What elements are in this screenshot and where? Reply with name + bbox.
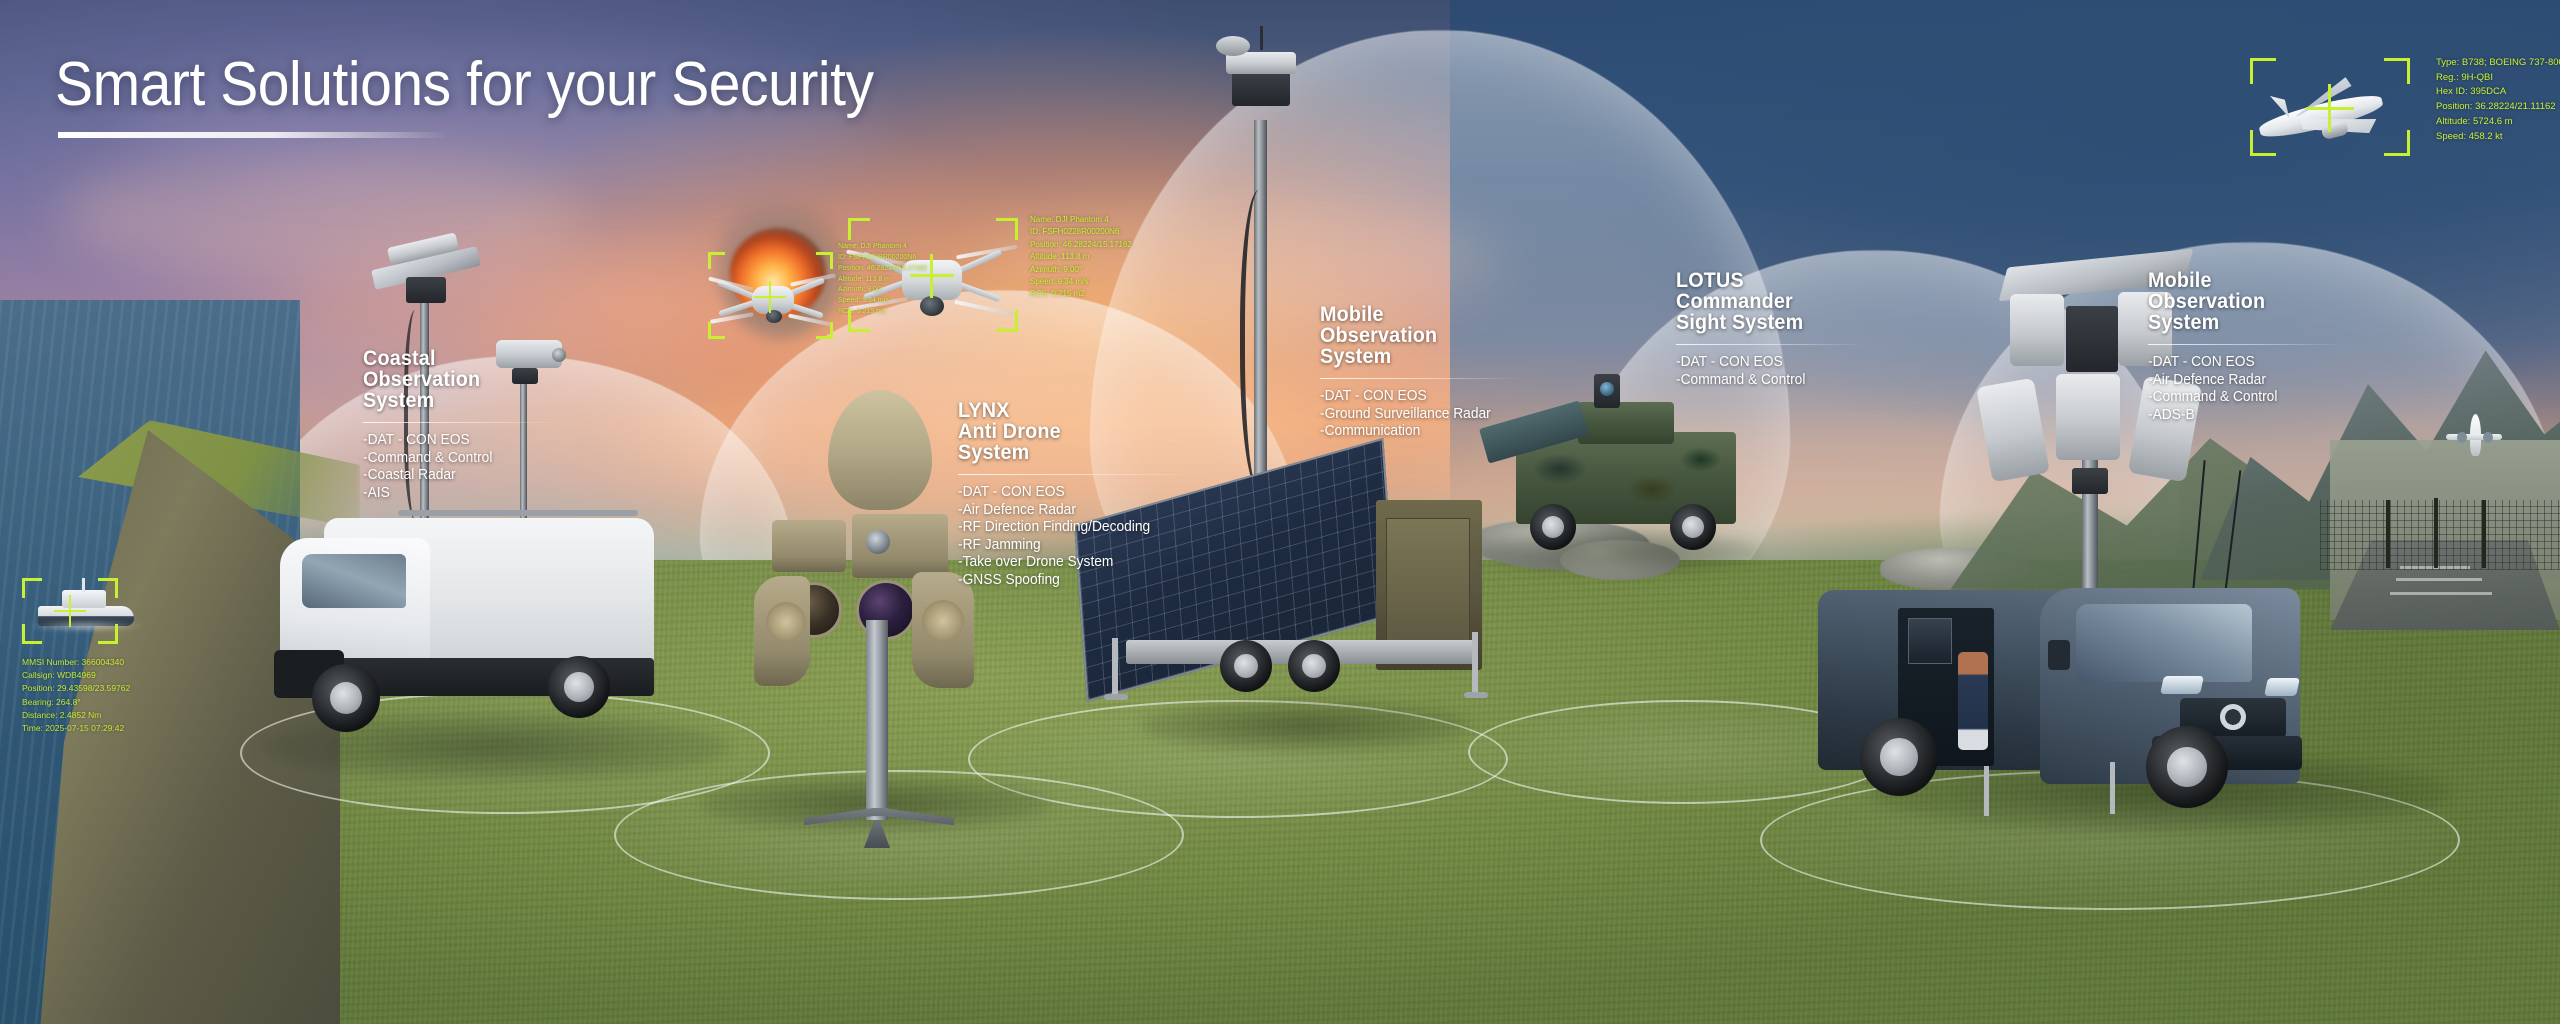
callout-item: -Communication xyxy=(1320,423,1558,441)
callout-item: -DAT - CON EOS xyxy=(2148,354,2367,372)
aircraft-hud-crosshair-v xyxy=(2328,84,2331,132)
right-van-mast-collar xyxy=(2072,468,2108,494)
right-van-headlight-right xyxy=(2264,678,2300,696)
drone-left-hud-bracket-tl xyxy=(708,252,725,269)
right-van-panel-left xyxy=(1976,378,2050,483)
callout-item: -ADS-B xyxy=(2148,407,2367,425)
vessel-hud-line-6: Time: 2025-07-15 07:29:42 xyxy=(22,722,130,735)
vessel-hud-readout: MMSI Number: 366004340 Callsign: WDB4969… xyxy=(22,656,130,735)
lotus-sight-lens xyxy=(1600,382,1614,396)
lotus-vehicle-turret xyxy=(1578,402,1674,444)
aircraft-hud-line-2: Reg.: 9H-QBI xyxy=(2436,71,2560,86)
vessel-hud-line-3: Position: 29.43598/23.59762 xyxy=(22,682,130,695)
callout-mobile-observation-system-right: Mobile Observation System -DAT - CON EOS… xyxy=(2148,270,2378,424)
lotus-vehicle-wheel-front xyxy=(1530,504,1576,550)
vessel-hud-line-2: Callsign: WDB4969 xyxy=(22,669,130,682)
trailer-wheel-front xyxy=(1220,640,1272,692)
lynx-radome xyxy=(828,390,932,510)
callout-divider xyxy=(1676,344,1866,345)
vessel-hud-crosshair-v xyxy=(69,595,71,627)
callout-item: -DAT - CON EOS xyxy=(363,432,553,450)
callout-title: Mobile Observation System xyxy=(2148,270,2364,333)
aircraft-tracking-hud: Type: B738; BOEING 737-800 Reg.: 9H-QBI … xyxy=(2250,58,2550,168)
drone-right-hud-bracket-tr xyxy=(996,218,1018,240)
right-van-whip-antenna-2 xyxy=(2225,470,2242,589)
right-van-wheel-rear xyxy=(1860,718,1938,796)
aircraft-hud-bracket-bl xyxy=(2250,130,2276,156)
callout-title: LOTUS Commander Sight System xyxy=(1676,270,1892,333)
drone-left-hud-bracket-tr xyxy=(816,252,833,269)
fence-post-3 xyxy=(2482,500,2486,568)
trailer-wheel-rear xyxy=(1288,640,1340,692)
callout-item: -Command & Control xyxy=(1676,372,1895,390)
callout-title: LYNX Anti Drone System xyxy=(958,400,1231,463)
drone-right-hud-line-6: Speed: 9.34 m/s xyxy=(1030,276,1132,288)
right-van-panel-center xyxy=(2056,374,2120,460)
right-van-whip-antenna-1 xyxy=(2192,460,2205,590)
trailer-box-door-panel xyxy=(1386,518,1470,658)
callout-lotus-commander-sight-system: LOTUS Commander Sight System -DAT - CON … xyxy=(1676,270,1906,389)
trailer-stabilizer-foot-right xyxy=(1464,692,1488,698)
mercedes-star-logo xyxy=(2220,704,2246,730)
lotus-vehicle-wheel-rear xyxy=(1670,504,1716,550)
right-van-sensor-core xyxy=(2066,306,2118,372)
trailer-mast-antenna xyxy=(1260,26,1263,50)
aircraft-hud-line-4: Position: 36.28224/21.11162 xyxy=(2436,100,2560,115)
drone-left-hud-bracket-br xyxy=(816,322,833,339)
coastal-van-windshield xyxy=(302,554,406,608)
right-van-headlight-left xyxy=(2160,676,2204,694)
drone-right-hud-readout: Name: DJI Phantom 4 ID: FSFH0228R00200N6… xyxy=(1030,214,1132,301)
callout-divider xyxy=(958,474,1198,475)
lynx-jammer-emitter-left xyxy=(766,602,806,642)
callout-item: -DAT - CON EOS xyxy=(1320,388,1558,406)
lynx-rf-module-left xyxy=(772,520,846,572)
vessel-hud-line-4: Bearing: 264.8° xyxy=(22,696,130,709)
callout-divider xyxy=(363,422,563,423)
drone-right-hud-crosshair-v xyxy=(930,254,933,298)
trailer-stabilizer-left xyxy=(1112,638,1118,698)
right-van-windshield xyxy=(2076,604,2252,682)
vessel-hud-bracket-bl xyxy=(22,624,42,644)
vessel-hud-line-1: MMSI Number: 366004340 xyxy=(22,656,130,669)
callout-item: -DAT - CON EOS xyxy=(958,484,1234,502)
right-van-stabilizer-front xyxy=(2110,762,2115,814)
callout-item: -Ground Surveillance Radar xyxy=(1320,406,1558,424)
trailer-mast-radar-dish xyxy=(1216,36,1250,56)
callout-divider xyxy=(1320,378,1520,379)
lynx-eo-lens-small xyxy=(866,530,890,554)
callout-item: -RF Jamming xyxy=(958,537,1234,555)
aircraft-hud-bracket-br xyxy=(2384,130,2410,156)
drone-left-hud-crosshair-v xyxy=(769,281,771,313)
callout-item: -Air Defence Radar xyxy=(958,502,1234,520)
drone-left-hud-bracket-bl xyxy=(708,322,725,339)
callout-item: -RF Direction Finding/Decoding xyxy=(958,519,1234,537)
trailer-stabilizer-right xyxy=(1472,632,1478,698)
vessel-hud-bracket-tr xyxy=(98,578,118,598)
callout-item: -GNSS Spoofing xyxy=(958,572,1234,590)
aircraft-hud-line-3: Hex ID: 395DCA xyxy=(2436,85,2560,100)
drone-right-hud-bracket-tl xyxy=(848,218,870,240)
drone-right-hud-bracket-bl xyxy=(848,310,870,332)
coastal-van-wheel-front xyxy=(312,664,380,732)
coastal-van-wheel-rear xyxy=(548,656,610,718)
aircraft-hud-line-1: Type: B738; BOEING 737-800 xyxy=(2436,56,2560,71)
trailer-mast-sensor-pod xyxy=(1232,72,1290,106)
page-title: Smart Solutions for your Security xyxy=(55,52,874,118)
vessel-hud-bracket-br xyxy=(98,624,118,644)
drone-right-hud-bracket-br xyxy=(996,310,1018,332)
callout-divider xyxy=(2148,344,2343,345)
right-van-interior-console xyxy=(1908,618,1952,664)
title-underline xyxy=(58,132,448,138)
drone-right-hud-line-7: RCS: 0.215 m2 xyxy=(1030,288,1132,300)
aircraft-hud-bracket-tl xyxy=(2250,58,2276,84)
callout-coastal-observation-system: Coastal Observation System -DAT - CON EO… xyxy=(363,348,563,502)
right-van-wheel-front xyxy=(2146,726,2228,808)
lynx-telescopic-pole xyxy=(866,620,888,820)
vessel-hud-line-5: Distance: 2.4852 Nm xyxy=(22,709,130,722)
right-van-sensor-left xyxy=(2010,294,2064,366)
right-van-operator xyxy=(1958,652,1988,750)
coastal-van-roof-rail xyxy=(398,510,638,516)
poster-canvas: Type: B738; BOEING 737-800 Reg.: 9H-QBI … xyxy=(0,0,2560,1024)
drone-right-hud-line-3: Position: 46.28224/15.17162 xyxy=(1030,239,1132,251)
vessel-hud-bracket-tl xyxy=(22,578,42,598)
departing-aircraft-engine-right xyxy=(2483,432,2493,443)
right-van-stabilizer-rear xyxy=(1984,766,1989,816)
drone-right-hud-line-5: Azimuth: 9.00° xyxy=(1030,264,1132,276)
drone-right-hud-line-4: Altitude: 113.8 m xyxy=(1030,251,1132,263)
aircraft-hud-readout: Type: B738; BOEING 737-800 Reg.: 9H-QBI … xyxy=(2436,56,2560,144)
callout-item: -AIS xyxy=(363,485,553,503)
aircraft-hud-bracket-tr xyxy=(2384,58,2410,84)
callout-lynx-anti-drone-system: LYNX Anti Drone System -DAT - CON EOS -A… xyxy=(958,400,1248,589)
callout-item: -Command & Control xyxy=(2148,389,2367,407)
coastal-radar-pedestal xyxy=(406,277,446,303)
callout-mobile-observation-system-center: Mobile Observation System -DAT - CON EOS… xyxy=(1320,304,1570,441)
callout-item: -DAT - CON EOS xyxy=(1676,354,1895,372)
coastal-observation-vehicle xyxy=(268,480,708,760)
callout-item: -Coastal Radar xyxy=(363,467,553,485)
callout-title: Mobile Observation System xyxy=(1320,304,1555,367)
callout-item: -Air Defence Radar xyxy=(2148,372,2367,390)
drone-right-tracking-hud: Name: DJI Phantom 4 ID: FSFH0228R00200N6… xyxy=(848,218,1108,338)
aircraft-hud-line-5: Altitude: 5724.6 m xyxy=(2436,115,2560,130)
right-van-mirror xyxy=(2048,640,2070,670)
aircraft-hud-line-6: Speed: 458.2 kt xyxy=(2436,130,2560,145)
drone-right-hud-line-2: ID: FSFH0228R00200N6 xyxy=(1030,226,1132,238)
callout-item: -Command & Control xyxy=(363,450,553,468)
callout-title: Coastal Observation System xyxy=(363,348,551,411)
vessel-tracking-hud: MMSI Number: 366004340 Callsign: WDB4969… xyxy=(22,578,242,708)
callout-item: -Take over Drone System xyxy=(958,554,1234,572)
lynx-jammer-emitter-right xyxy=(922,600,964,642)
trailer-stabilizer-foot-left xyxy=(1104,694,1128,700)
drone-right-hud-line-1: Name: DJI Phantom 4 xyxy=(1030,214,1132,226)
